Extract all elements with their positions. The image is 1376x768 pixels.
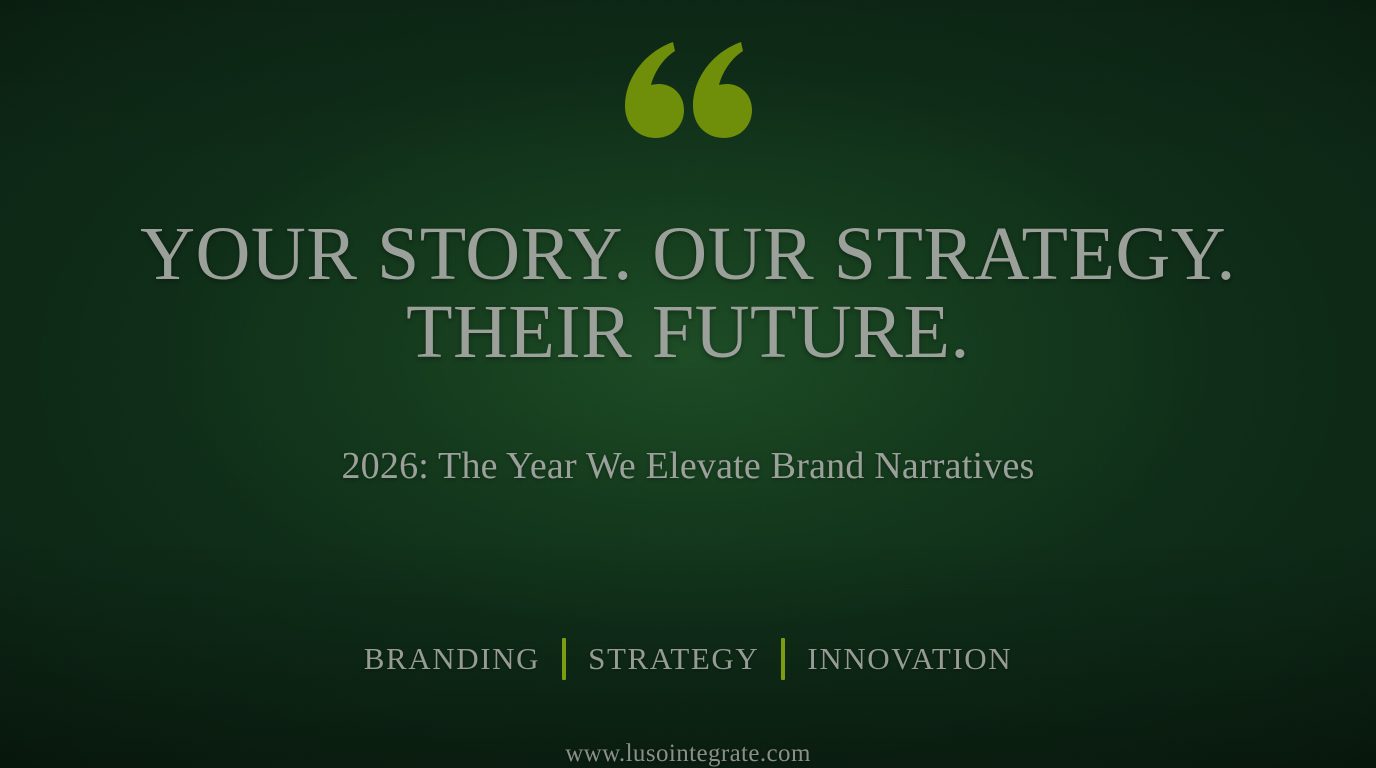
tagline-item-strategy: STRATEGY bbox=[588, 641, 759, 677]
page-title: YOUR STORY. OUR STRATEGY. THEIR FUTURE. bbox=[88, 215, 1288, 372]
tagline-list: BRANDING STRATEGY INNOVATION bbox=[364, 638, 1013, 680]
headline-line-2: THEIR FUTURE. bbox=[88, 293, 1288, 371]
website-url[interactable]: www.lusointegrate.com bbox=[565, 740, 811, 768]
tagline-item-innovation: INNOVATION bbox=[807, 641, 1012, 677]
tagline-separator-icon bbox=[781, 638, 785, 680]
presentation-slide: YOUR STORY. OUR STRATEGY. THEIR FUTURE. … bbox=[0, 0, 1376, 768]
tagline-separator-icon bbox=[562, 638, 566, 680]
headline-line-1: YOUR STORY. OUR STRATEGY. bbox=[88, 215, 1288, 293]
open-quote-icon bbox=[623, 40, 753, 167]
slide-content: YOUR STORY. OUR STRATEGY. THEIR FUTURE. … bbox=[0, 0, 1376, 768]
tagline-item-branding: BRANDING bbox=[364, 641, 540, 677]
subtitle: 2026: The Year We Elevate Brand Narrativ… bbox=[341, 444, 1034, 490]
